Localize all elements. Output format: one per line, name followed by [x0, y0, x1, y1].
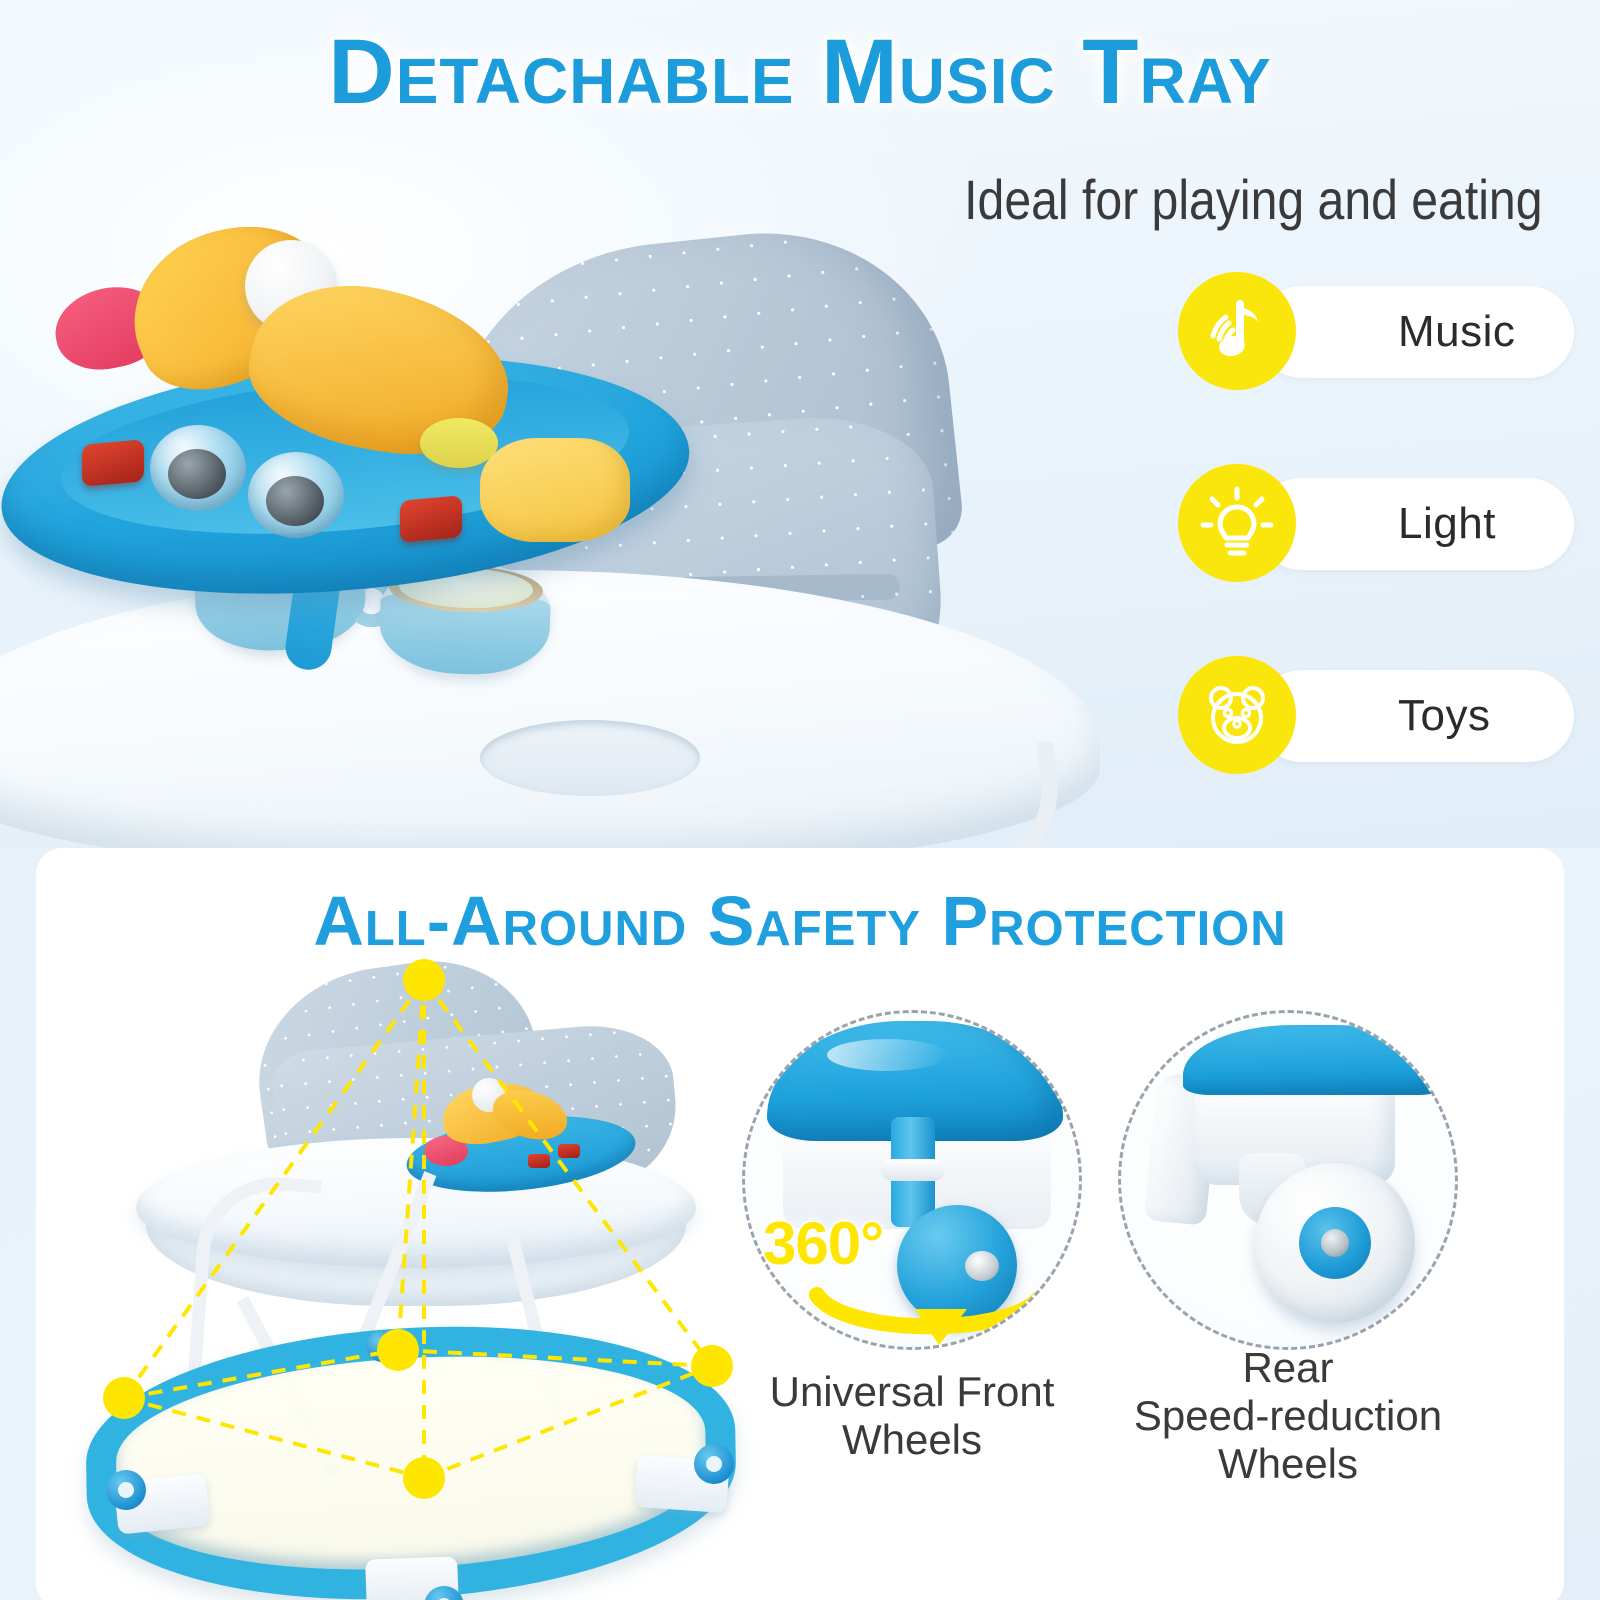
badge-pill: Light: [1256, 478, 1574, 570]
music-tray-product-photo: [0, 130, 1120, 820]
feature-badge-light: Light: [1164, 464, 1584, 582]
rotation-arrow-icon: [803, 1265, 1053, 1349]
rear-speed-reduction-wheel: [1255, 1163, 1415, 1323]
badge-pill: Toys: [1256, 670, 1574, 762]
walker-front-wheel: [366, 1330, 398, 1362]
spinning-ball-dome: [248, 452, 344, 538]
rear-wheel-detail: [1118, 1010, 1458, 1350]
badge-label: Toys: [1398, 691, 1490, 741]
front-wheel-caption: Universal Front Wheels: [722, 1368, 1102, 1464]
yellow-flower-button: [480, 438, 630, 542]
front-wheel-detail: 360°: [742, 1010, 1082, 1350]
badge-label: Music: [1398, 307, 1515, 357]
safety-protection-card: All-Around Safety Protection: [36, 848, 1564, 1600]
top-feature-section: Detachable Music Tray Ideal for playing …: [0, 0, 1600, 848]
red-button: [528, 1154, 550, 1168]
walker-leg: [874, 741, 1067, 848]
spinning-ball-dome: [150, 425, 246, 511]
page-title: Detachable Music Tray: [0, 26, 1600, 118]
light-bulb-icon: [1178, 464, 1296, 582]
teddy-bear-icon: [1178, 656, 1296, 774]
walker-base-frame: [84, 1311, 738, 1600]
badge-label: Light: [1398, 499, 1496, 549]
walker-rear-wheel: [106, 1470, 146, 1510]
red-button: [400, 495, 462, 542]
red-button: [82, 439, 144, 486]
music-note-icon: [1178, 272, 1296, 390]
red-button: [558, 1144, 580, 1158]
section-title: All-Around Safety Protection: [36, 886, 1564, 956]
detachable-music-tray: [0, 230, 700, 560]
feature-badge-toys: Toys: [1164, 656, 1584, 774]
feature-badge-list: Music Light: [1164, 272, 1584, 774]
baby-walker-illustration: [76, 958, 756, 1598]
front-wheel-collar: [881, 1159, 945, 1181]
rear-wheel-blue-cap: [1183, 1025, 1445, 1095]
badge-pill: Music: [1256, 286, 1574, 378]
feature-badge-music: Music: [1164, 272, 1584, 390]
rear-wheel-caption: Rear Speed-reduction Wheels: [1098, 1344, 1478, 1488]
page-subtitle: Ideal for playing and eating: [964, 172, 1542, 228]
